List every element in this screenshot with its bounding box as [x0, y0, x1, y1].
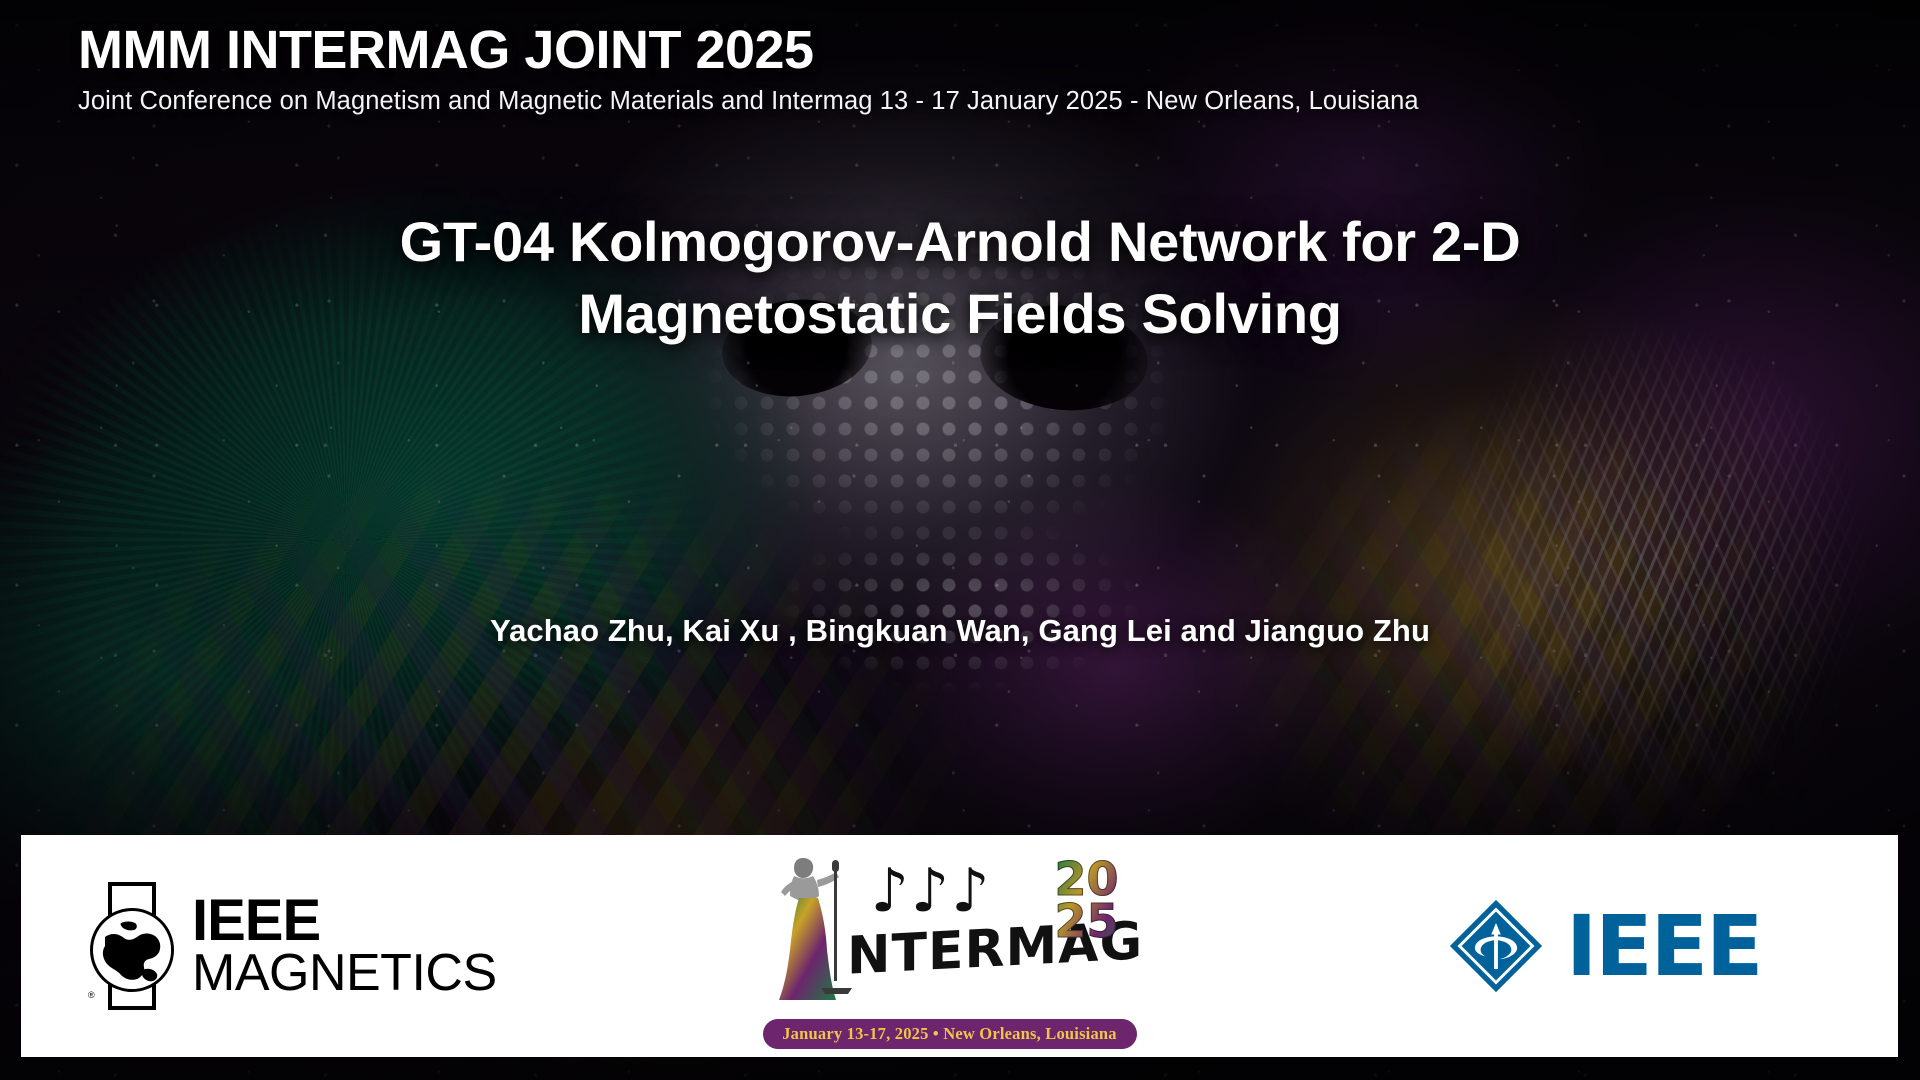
presentation-slide: MMM INTERMAG JOINT 2025 Joint Conference…: [0, 0, 1920, 1080]
page-title: GT-04 Kolmogorov-Arnold Network for 2-D …: [160, 206, 1760, 349]
mmm-intermag-date-banner: January 13-17, 2025 • New Orleans, Louis…: [763, 1019, 1137, 1049]
paper-title-line-2: Magnetostatic Fields Solving: [160, 278, 1760, 350]
conference-title: MMM INTERMAG JOINT 2025: [78, 22, 1848, 79]
ieee-magnetics-emblem-icon: ®: [86, 876, 178, 1016]
ieee-wordmark: IEEE: [1566, 897, 1761, 995]
ieee-magnetics-logo: ® IEEE MAGNETICS: [21, 835, 621, 1057]
ieee-magnetics-society-text: MAGNETICS: [192, 949, 497, 999]
globe-icon: [90, 908, 174, 992]
ieee-logo: IEEE: [1278, 835, 1898, 1057]
paper-title-line-1: GT-04 Kolmogorov-Arnold Network for 2-D: [160, 206, 1760, 278]
ieee-diamond-icon: [1448, 898, 1544, 994]
conference-header: MMM INTERMAG JOINT 2025 Joint Conference…: [78, 22, 1848, 116]
author-list: Yachao Zhu, Kai Xu , Bingkuan Wan, Gang …: [160, 613, 1760, 649]
registered-mark: ®: [88, 990, 95, 1000]
mmm-music-notes: ♪♪♪: [871, 856, 992, 926]
mmm-intermag-logo: ♪♪♪ NTERMAG 20 25 January 13-17, 2025 • …: [621, 835, 1278, 1057]
jazz-singer-icon: [763, 850, 855, 1008]
mmm-year-bottom: 25: [1055, 894, 1119, 948]
footer-logo-band: ® IEEE MAGNETICS: [21, 835, 1898, 1057]
ieee-magnetics-ieee-text: IEEE: [192, 893, 497, 949]
conference-subtitle: Joint Conference on Magnetism and Magnet…: [78, 87, 1848, 116]
